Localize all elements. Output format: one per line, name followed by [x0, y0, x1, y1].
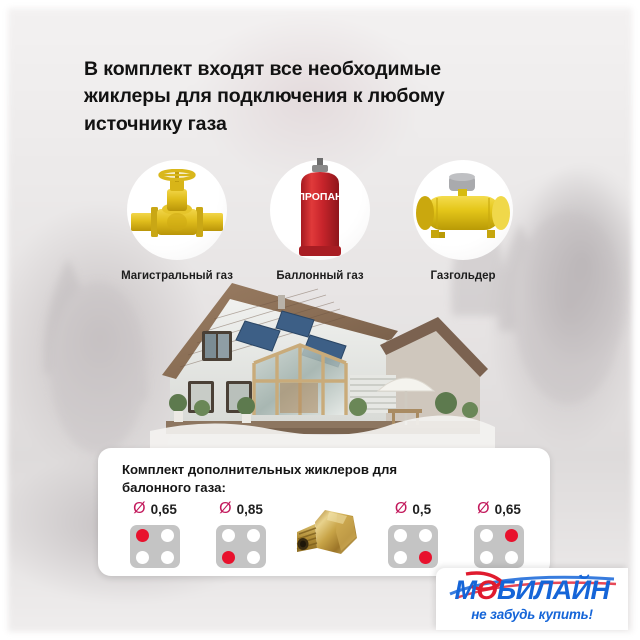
jet-item: Ø 0,85 — [204, 500, 278, 568]
hob-diagram — [130, 525, 180, 568]
burner-bottom-left — [394, 551, 407, 564]
page-title: В комплект входят все необходимые жиклер… — [84, 56, 504, 138]
burner-bottom-left — [136, 551, 149, 564]
burner-top-right — [419, 529, 432, 542]
gas-holder-tank-icon — [415, 172, 511, 248]
logo-part-2: О — [476, 575, 497, 605]
burner-bottom-right — [161, 551, 174, 564]
jet-item: Ø 0,65 — [118, 500, 192, 568]
propane-cylinder-icon: ПРОПАН — [285, 158, 355, 262]
jet-size: 0,65 — [495, 502, 521, 517]
burner-top-right — [505, 529, 518, 542]
jet-kit-card: Комплект дополнительных жиклеров для бал… — [98, 448, 550, 576]
jet-item: Ø 0,65 — [462, 500, 536, 568]
jet-dimension: Ø 0,85 — [219, 500, 263, 519]
jet-size: 0,65 — [151, 502, 177, 517]
logo-part-3: БИЛАЙН — [497, 575, 610, 605]
hob-diagram — [474, 525, 524, 568]
burner-top-left — [394, 529, 407, 542]
jet-size: 0,5 — [412, 502, 431, 517]
source-item-cylinder-gas: ПРОПАН Баллонный газ — [261, 160, 379, 290]
jet-dimension: Ø 0,65 — [477, 500, 521, 519]
source-item-gas-holder: Газгольдер — [404, 160, 522, 290]
burner-bottom-right — [419, 551, 432, 564]
jet-size: 0,85 — [237, 502, 263, 517]
burner-top-left — [480, 529, 493, 542]
source-circle: ПРОПАН — [270, 160, 370, 260]
hob-diagram — [216, 525, 266, 568]
burner-bottom-right — [505, 551, 518, 564]
hob-diagram — [388, 525, 438, 568]
gas-sources-row: Магистральный газ — [118, 160, 522, 290]
jet-nozzle-photo — [290, 500, 364, 568]
diameter-icon: Ø — [133, 501, 145, 517]
jet-dimension: Ø 0,65 — [133, 500, 177, 519]
house-photo — [150, 275, 495, 460]
burner-bottom-right — [247, 551, 260, 564]
cylinder-text: ПРОПАН — [297, 191, 342, 203]
source-circle — [127, 160, 227, 260]
card-title: Комплект дополнительных жиклеров для бал… — [122, 461, 452, 498]
brand-logo[interactable]: МОБИЛАЙН не забудь купить! — [436, 568, 628, 630]
diameter-icon: Ø — [395, 501, 407, 517]
diameter-icon: Ø — [219, 501, 231, 517]
promo-image: В комплект входят все необходимые жиклер… — [0, 0, 640, 640]
burner-top-right — [247, 529, 260, 542]
burner-bottom-left — [222, 551, 235, 564]
burner-bottom-left — [480, 551, 493, 564]
burner-top-right — [161, 529, 174, 542]
gate-valve-icon — [129, 169, 225, 251]
jet-item: Ø 0,5 — [376, 500, 450, 568]
diameter-icon: Ø — [477, 501, 489, 517]
logo-tagline: не забудь купить! — [471, 607, 593, 622]
source-circle — [413, 160, 513, 260]
burner-top-left — [222, 529, 235, 542]
jet-list: Ø 0,65 Ø 0,85 — [118, 500, 536, 572]
jet-dimension: Ø 0,5 — [395, 500, 431, 519]
logo-wordmark: МОБИЛАЙН — [454, 577, 609, 604]
brass-gas-jet-nozzle-icon — [291, 502, 363, 566]
logo-part-1: М — [454, 575, 476, 605]
burner-top-left — [136, 529, 149, 542]
source-item-mainline-gas: Магистральный газ — [118, 160, 236, 290]
